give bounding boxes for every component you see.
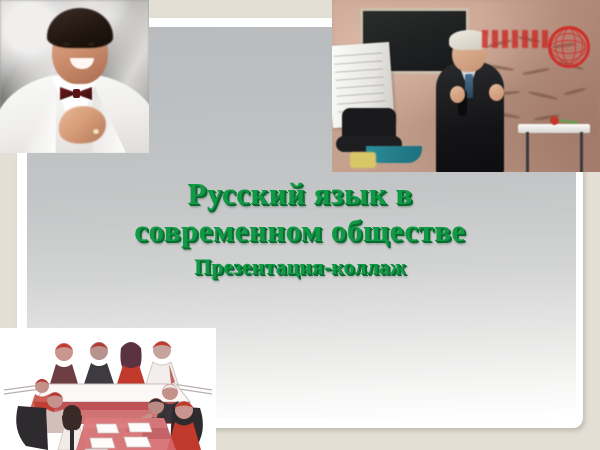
bow-tie-knot xyxy=(73,89,80,98)
photo-man-in-white-tuxedo xyxy=(0,0,149,153)
photo-softening-overlay xyxy=(332,0,600,172)
meeting-illustration-svg xyxy=(0,328,216,450)
illustration-people-around-table xyxy=(0,328,216,450)
eye-right xyxy=(88,42,95,46)
photo-lecturer-on-stage xyxy=(332,0,600,172)
ring xyxy=(93,129,99,134)
presentation-slide: Русский язык в современном обществе През… xyxy=(0,0,600,450)
eye-left xyxy=(63,42,70,46)
